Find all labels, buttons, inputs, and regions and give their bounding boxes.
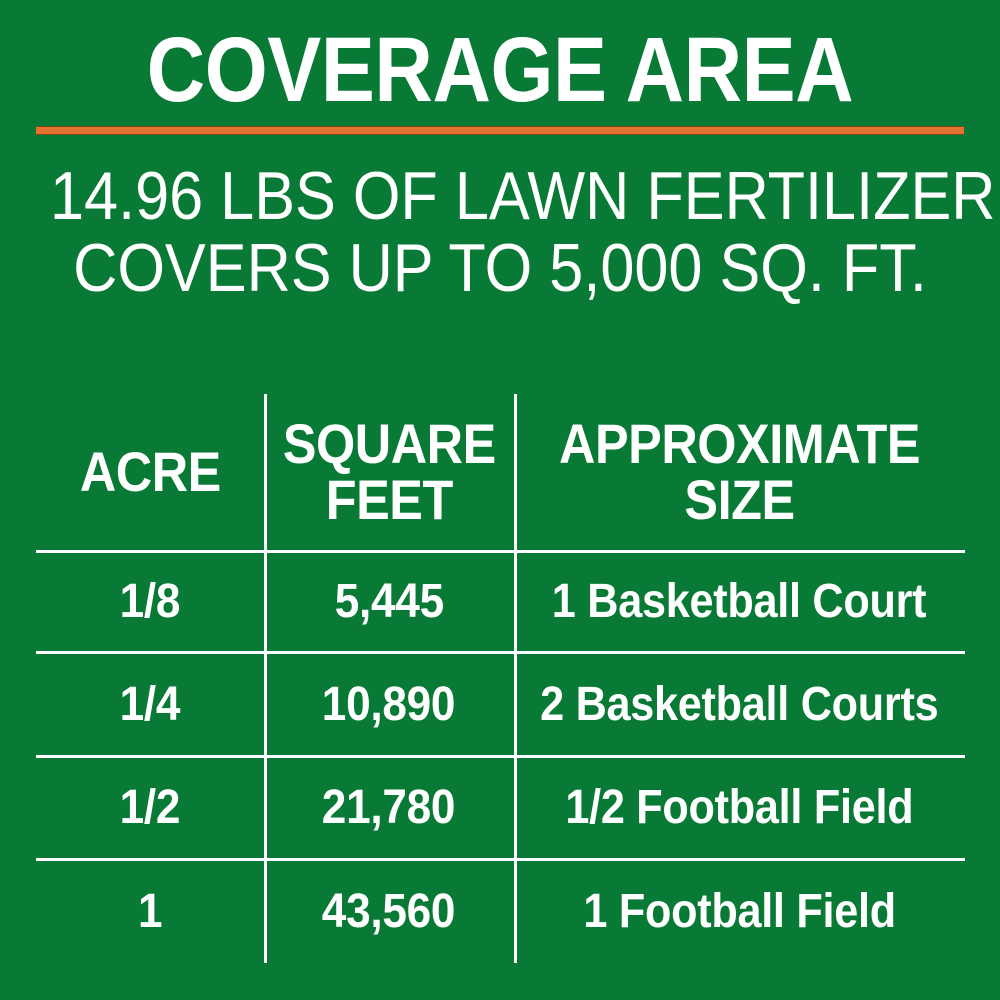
cell-acre: 1/2 [36,758,264,858]
table-row: 1/2 21,780 1/2 Football Field [36,758,965,858]
cell-square-feet-value: 43,560 [322,887,455,937]
cell-acre: 1 [36,861,264,963]
cell-acre-value: 1/4 [120,680,181,730]
table-header-row: ACRE SQUARE FEET APPROXIMATE SIZE [36,394,965,550]
cell-approximate-size: 1 Basketball Court [514,553,965,651]
cell-square-feet: 43,560 [264,861,514,963]
cell-square-feet-value: 10,890 [322,680,455,730]
cell-approximate-size-value: 1 Football Field [583,887,895,937]
column-header-acre: ACRE [36,394,264,550]
page-title: COVERAGE AREA [60,24,940,116]
cell-approximate-size-value: 1/2 Football Field [566,783,914,833]
coverage-area-infographic: COVERAGE AREA 14.96 LBS OF LAWN FERTILIZ… [0,0,1000,1000]
column-header-approximate-size-line-2: SIZE [559,472,920,528]
cell-acre-value: 1/2 [120,783,181,833]
cell-approximate-size: 2 Basketball Courts [514,654,965,755]
title-divider-rule [36,126,964,135]
column-header-square-feet-line-2: FEET [283,472,496,528]
cell-approximate-size-value: 2 Basketball Courts [540,680,938,730]
cell-acre-value: 1 [138,887,162,937]
column-header-square-feet-line-1: SQUARE [283,416,496,472]
cell-square-feet-value: 21,780 [322,783,455,833]
column-header-approximate-size-line-1: APPROXIMATE [559,416,920,472]
table-row: 1/8 5,445 1 Basketball Court [36,553,965,651]
coverage-table: ACRE SQUARE FEET APPROXIMATE SIZE 1/8 [36,394,965,964]
cell-square-feet: 10,890 [264,654,514,755]
column-header-square-feet: SQUARE FEET [264,394,514,550]
cell-approximate-size: 1 Football Field [514,861,965,963]
table-row: 1/4 10,890 2 Basketball Courts [36,654,965,755]
cell-acre: 1/8 [36,553,264,651]
subtitle-line-2: COVERS UP TO 5,000 SQ. FT. [50,232,950,304]
cell-square-feet-value: 5,445 [334,577,443,627]
table-row: 1 43,560 1 Football Field [36,861,965,963]
column-header-acre-line-1: ACRE [79,444,220,500]
column-header-approximate-size: APPROXIMATE SIZE [514,394,965,550]
cell-square-feet: 21,780 [264,758,514,858]
cell-approximate-size: 1/2 Football Field [514,758,965,858]
subtitle: 14.96 LBS OF LAWN FERTILIZER COVERS UP T… [0,160,1000,304]
subtitle-line-1: 14.96 LBS OF LAWN FERTILIZER [50,160,950,232]
cell-square-feet: 5,445 [264,553,514,651]
cell-acre: 1/4 [36,654,264,755]
cell-approximate-size-value: 1 Basketball Court [552,577,926,627]
cell-acre-value: 1/8 [120,577,181,627]
